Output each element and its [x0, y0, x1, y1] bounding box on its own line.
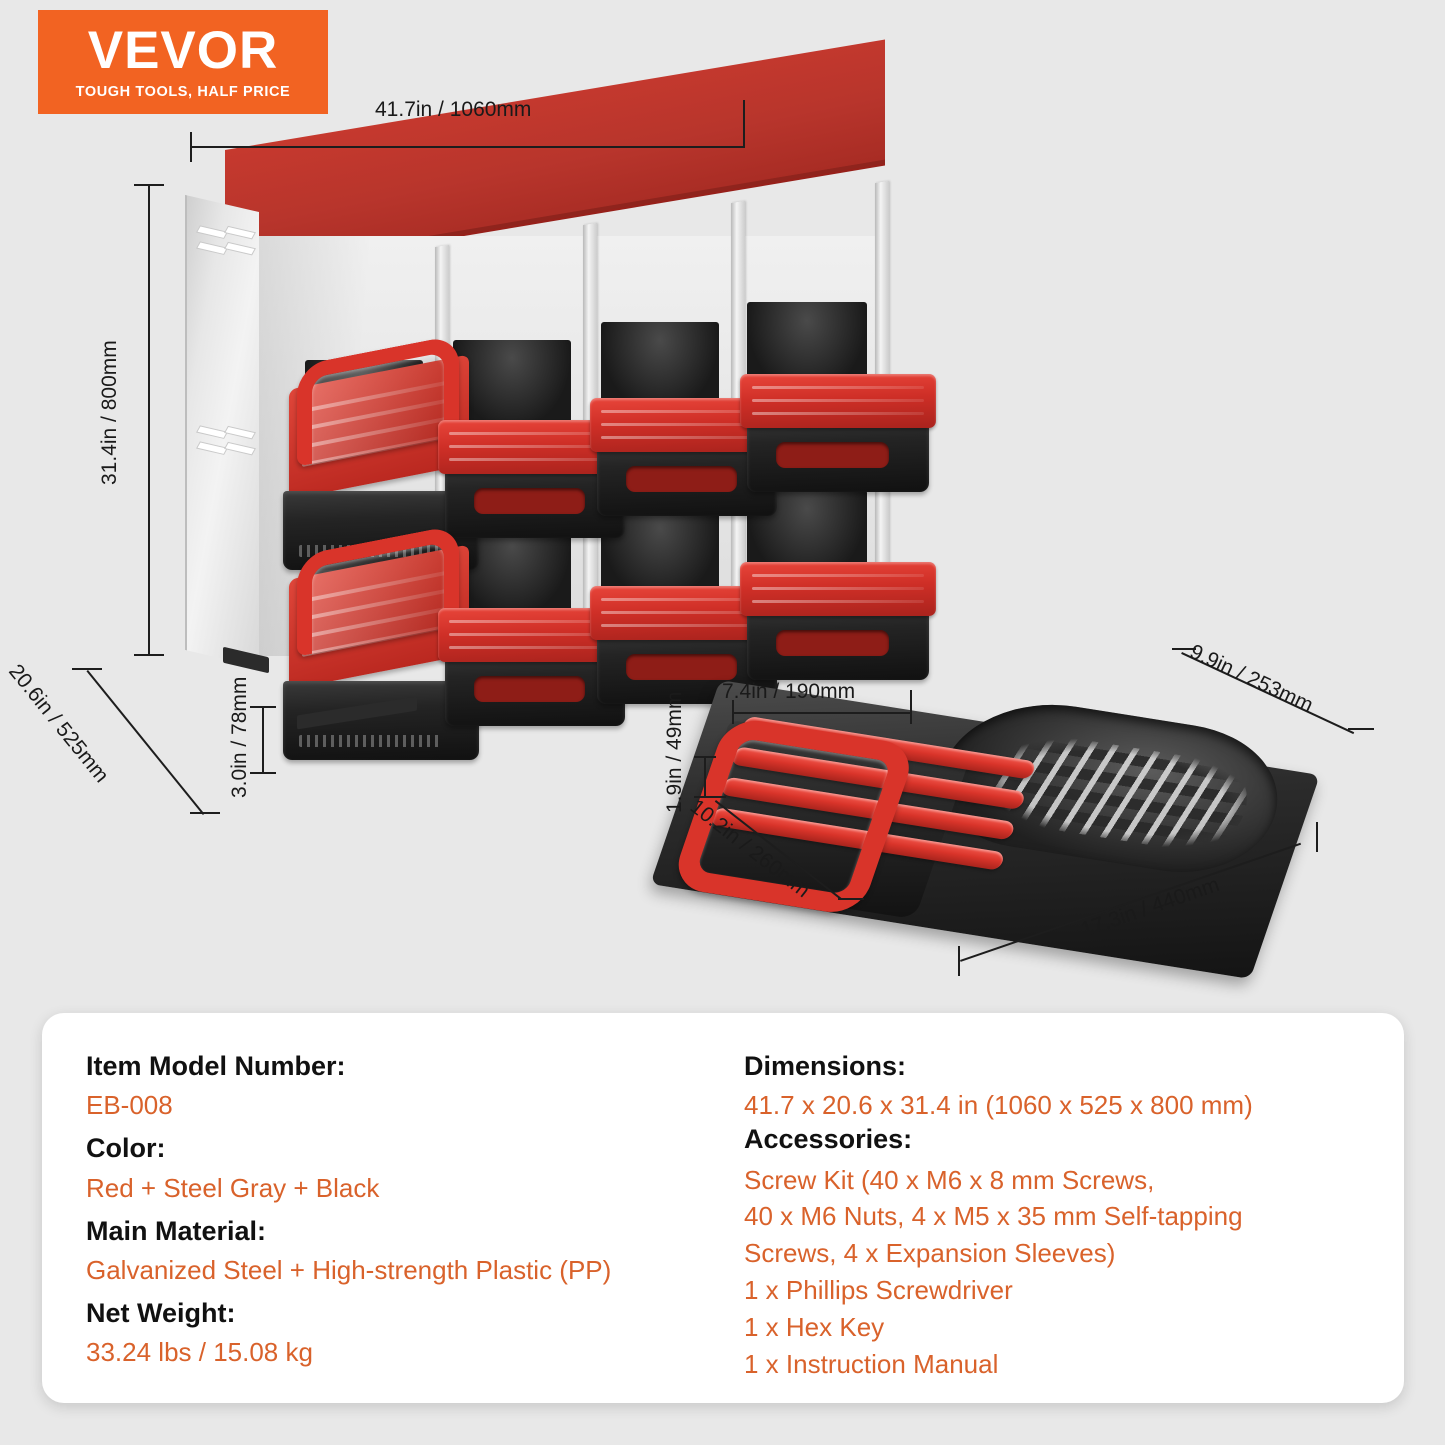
tray-handle-slot: [474, 488, 586, 514]
dimension-line-leg: [262, 706, 264, 774]
dimension-tick: [134, 184, 164, 186]
spec-value-color: Red + Steel Gray + Black: [86, 1171, 702, 1205]
brand-tagline: TOUGH TOOLS, HALF PRICE: [76, 84, 291, 100]
spec-label-model: Item Model Number:: [86, 1049, 702, 1084]
dimension-label-tray-front: 1.9in / 49mm: [663, 614, 687, 735]
dimension-tick: [134, 654, 164, 656]
product-spec-sheet: VEVOR TOUGH TOOLS, HALF PRICE: [0, 0, 1445, 1445]
dimension-label-tray-width: 7.4in / 190mm: [722, 680, 855, 704]
rollout-egg-tray[interactable]: [747, 374, 929, 492]
spec-label-dimensions: Dimensions:: [744, 1049, 1360, 1084]
tray-red-lid: [740, 374, 937, 428]
dimension-tick: [958, 946, 960, 976]
nest-cavity: [453, 340, 571, 430]
tray-perforations: [299, 735, 440, 748]
spec-label-material: Main Material:: [86, 1214, 702, 1249]
dimension-tick: [250, 706, 276, 708]
accessory-line: 40 x M6 Nuts, 4 x M5 x 35 mm Self-tappin…: [744, 1198, 1360, 1235]
spec-label-color: Color:: [86, 1131, 702, 1166]
spec-column-left: Item Model Number: EB-008 Color: Red + S…: [86, 1049, 702, 1403]
dimension-tick: [702, 796, 726, 798]
dimension-line-tray-width: [732, 712, 912, 714]
dimension-label-leg: 3.0in / 78mm: [228, 589, 252, 710]
nest-box-illustration: [185, 150, 885, 710]
dimension-line-height: [148, 184, 150, 656]
dimension-tick: [1348, 728, 1374, 730]
dimension-tick: [743, 100, 745, 146]
specification-card: Item Model Number: EB-008 Color: Red + S…: [42, 1013, 1404, 1403]
accessory-line: Screw Kit (40 x M6 x 8 mm Screws,: [744, 1162, 1360, 1199]
spec-value-dimensions: 41.7 x 20.6 x 31.4 in (1060 x 525 x 800 …: [744, 1088, 1360, 1122]
ventilation-slot-icon: [226, 243, 255, 254]
spec-value-weight: 33.24 lbs / 15.08 kg: [86, 1335, 702, 1369]
dimension-label-depth: 20.6in / 525mm: [3, 660, 113, 788]
accessory-line: 1 x Phillips Screwdriver: [744, 1272, 1360, 1309]
spec-value-model: EB-008: [86, 1088, 702, 1122]
tray-handle-slot: [776, 442, 889, 468]
ventilation-slot-icon: [226, 427, 255, 438]
tray-handle-slot: [626, 466, 738, 492]
accessory-line: 1 x Hex Key: [744, 1309, 1360, 1346]
spec-column-right: Dimensions: 41.7 x 20.6 x 31.4 in (1060 …: [702, 1049, 1360, 1403]
dimension-label-width: 41.7in / 1060mm: [375, 98, 531, 122]
accessory-line: 1 x Instruction Manual: [744, 1346, 1360, 1383]
ventilation-slot-icon: [226, 227, 255, 238]
accessory-line: Screws, 4 x Expansion Sleeves): [744, 1235, 1360, 1272]
dimension-tick: [250, 772, 276, 774]
tray-handle-slot: [474, 676, 586, 702]
dimension-tick: [838, 898, 864, 900]
ventilation-slot-icon: [198, 226, 227, 237]
dimension-tick: [72, 668, 102, 670]
spec-value-material: Galvanized Steel + High-strength Plastic…: [86, 1253, 702, 1287]
ventilation-slot-icon: [198, 442, 227, 453]
vevor-logo: VEVOR TOUGH TOOLS, HALF PRICE: [38, 10, 328, 114]
dimension-tick: [190, 132, 192, 162]
dimension-tick: [694, 756, 716, 758]
dimension-tick: [910, 690, 912, 724]
dimension-line-tray-height: [704, 756, 706, 798]
spec-value-accessories: Screw Kit (40 x M6 x 8 mm Screws, 40 x M…: [744, 1162, 1360, 1383]
spec-label-weight: Net Weight:: [86, 1296, 702, 1331]
spec-label-accessories: Accessories:: [744, 1122, 1360, 1157]
tray-red-lid: [740, 562, 937, 616]
dimension-tick: [190, 812, 220, 814]
dimension-line-width: [190, 146, 745, 148]
ventilation-slot-icon: [198, 242, 227, 253]
ventilation-slot-icon: [198, 426, 227, 437]
brand-name: VEVOR: [88, 24, 279, 77]
dimension-tick: [1316, 822, 1318, 852]
ventilation-slot-icon: [226, 443, 255, 454]
